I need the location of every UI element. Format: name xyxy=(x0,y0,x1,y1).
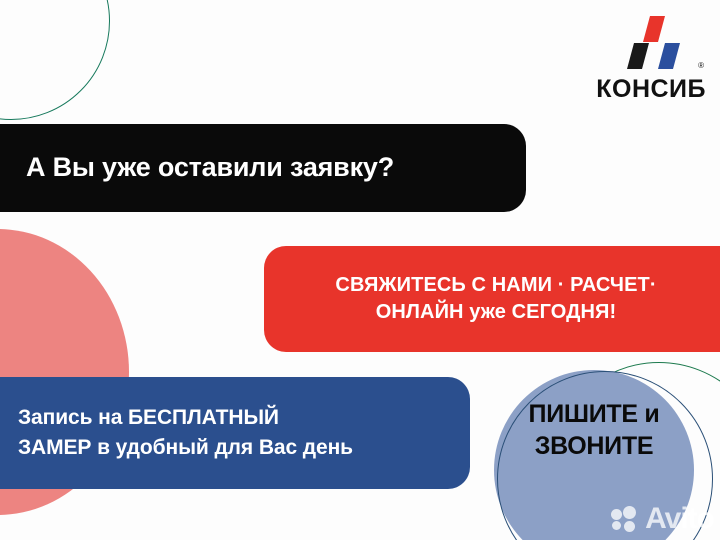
banner-contact-us-text: СВЯЖИТЕСЬ С НАМИ · РАСЧЕТ· ОНЛАЙН уже СЕ… xyxy=(288,272,704,326)
banner-question[interactable]: А Вы уже оставили заявку? xyxy=(0,124,526,212)
avito-watermark: Avito xyxy=(611,504,714,534)
brand-wordmark: КОНСИБ xyxy=(582,77,706,102)
avito-logo-icon xyxy=(611,506,641,532)
avito-watermark-text: Avito xyxy=(645,504,714,534)
banner-free-measurement[interactable]: Запись на БЕСПЛАТНЫЙ ЗАМЕР в удобный для… xyxy=(0,377,470,489)
banner-contact-us-line1: СВЯЖИТЕСЬ С НАМИ · РАСЧЕТ· xyxy=(335,274,656,296)
registered-trademark-icon: ® xyxy=(698,62,704,70)
konsib-logo-mark-icon xyxy=(620,16,682,70)
promo-poster: КОНСИБ ® А Вы уже оставили заявку? СВЯЖИ… xyxy=(0,0,720,540)
banner-question-text: А Вы уже оставили заявку? xyxy=(26,153,394,183)
banner-contact-us-line2: ОНЛАЙН уже СЕГОДНЯ! xyxy=(376,301,617,323)
callout-line1: ПИШИТЕ и xyxy=(529,398,660,430)
banner-free-measurement-line1: Запись на БЕСПЛАТНЫЙ xyxy=(18,406,279,429)
decorative-ring-top-left xyxy=(0,0,110,120)
banner-contact-us[interactable]: СВЯЖИТЕСЬ С НАМИ · РАСЧЕТ· ОНЛАЙН уже СЕ… xyxy=(264,246,720,352)
banner-free-measurement-line2: ЗАМЕР в удобный для Вас день xyxy=(18,436,353,459)
brand-logo: КОНСИБ ® xyxy=(582,16,706,102)
callout-line2: ЗВОНИТЕ xyxy=(535,430,653,462)
banner-free-measurement-text: Запись на БЕСПЛАТНЫЙ ЗАМЕР в удобный для… xyxy=(18,403,353,464)
